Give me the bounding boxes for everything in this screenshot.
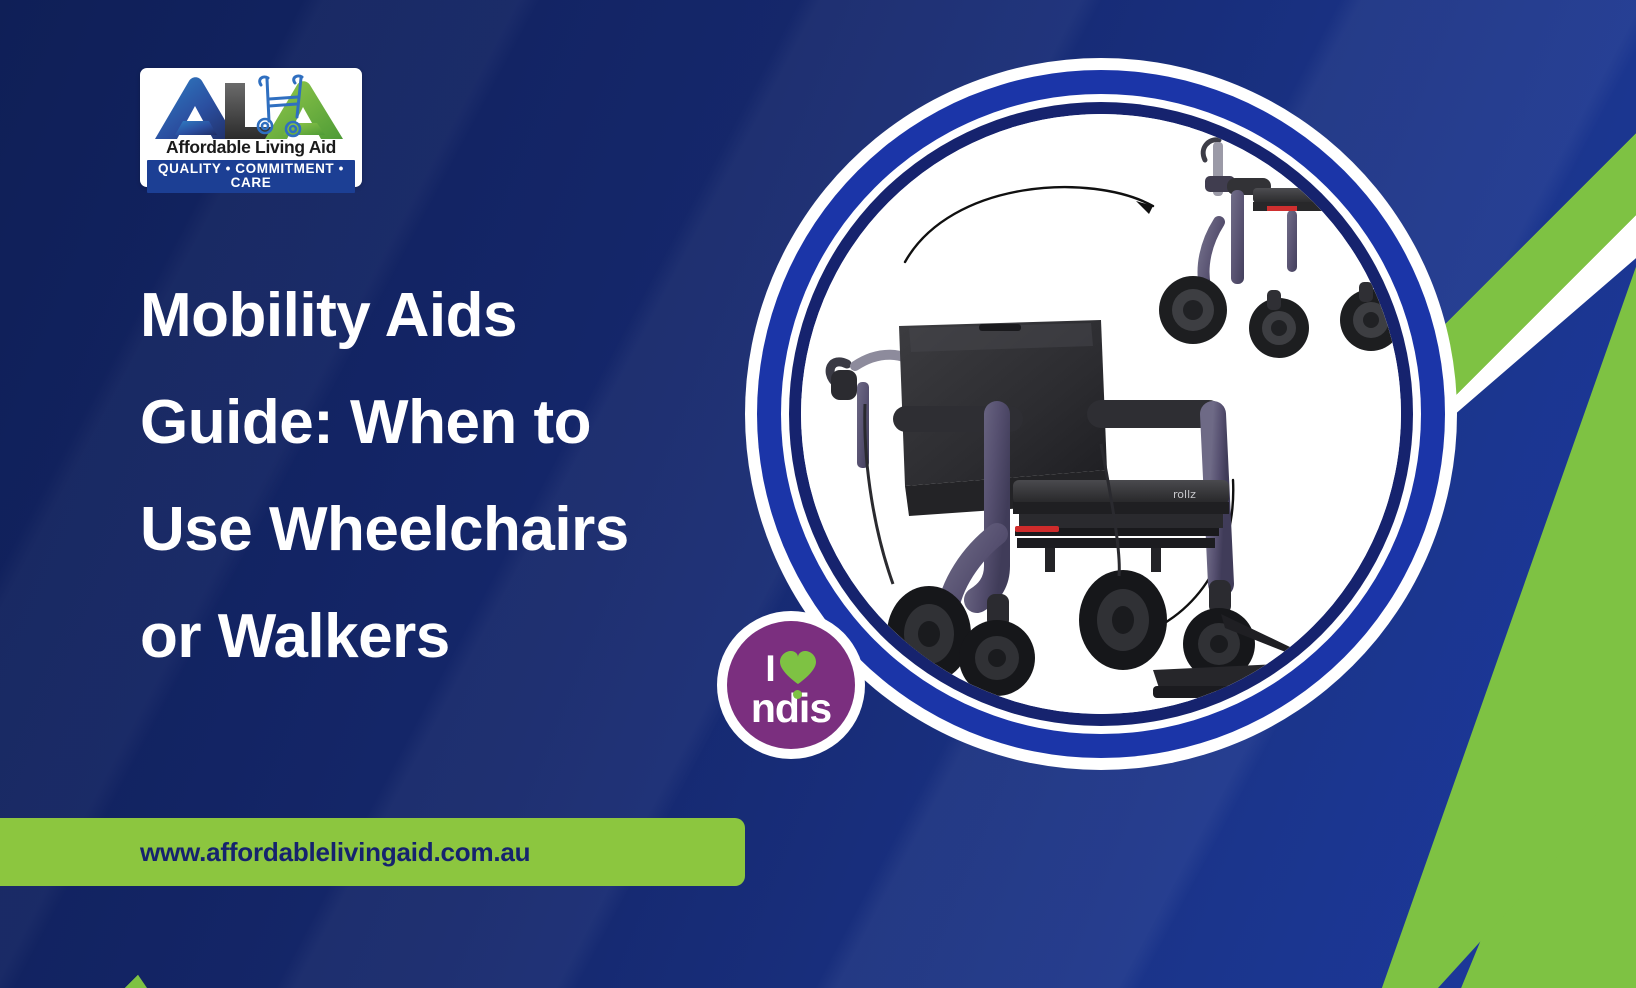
logo-tagline: QUALITY • COMMITMENT • CARE	[147, 160, 355, 193]
logo-monogram-ala	[145, 73, 357, 139]
ndis-badge-inner: I ndis	[727, 621, 855, 749]
ndis-wordmark-text: ndis	[751, 685, 831, 731]
ndis-i-love-row: I	[765, 646, 816, 690]
website-url-bar[interactable]: www.affordablelivingaid.com.au	[0, 818, 745, 886]
company-logo[interactable]: Affordable Living Aid QUALITY • COMMITME…	[140, 68, 362, 187]
marketing-banner: rollz	[0, 0, 1636, 988]
ala-monogram-icon	[145, 73, 357, 139]
ndis-i-dot-icon	[793, 690, 802, 699]
logo-company-name: Affordable Living Aid	[145, 138, 357, 157]
heart-icon	[779, 651, 817, 685]
rollator-wheelchair-illustration: rollz	[801, 114, 1401, 714]
website-url-text: www.affordablelivingaid.com.au	[140, 837, 530, 868]
ndis-badge: I ndis	[717, 611, 865, 759]
ndis-wordmark: ndis	[751, 688, 831, 728]
product-photo: rollz	[801, 114, 1401, 714]
svg-text:rollz: rollz	[1173, 488, 1196, 501]
ndis-i-label: I	[765, 650, 775, 687]
page-title: Mobility Aids Guide: When to Use Wheelch…	[140, 262, 700, 690]
